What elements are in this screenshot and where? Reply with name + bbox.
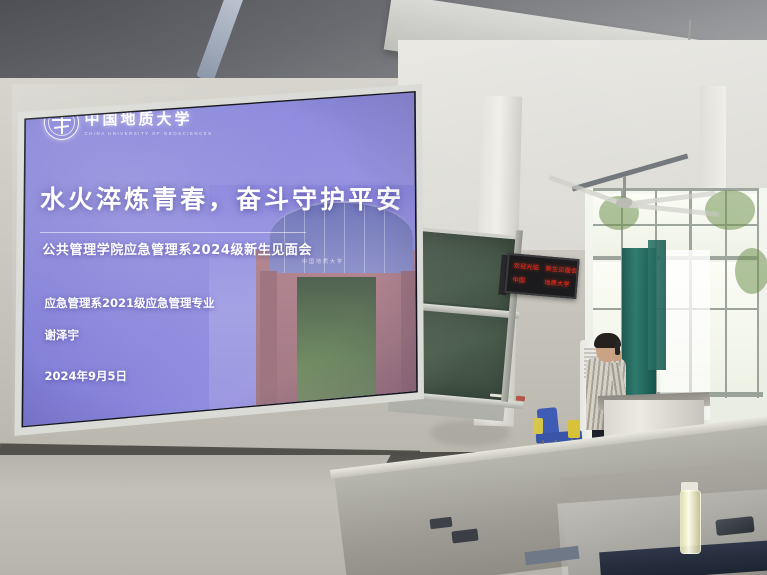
university-name-en: CHINA UNIVERSITY OF GEOSCIENCES [84, 131, 212, 136]
yellow-container [533, 418, 543, 434]
ceiling-fan-icon [616, 198, 632, 208]
projection-screen[interactable]: 中国地质大学 中国地质大学 [12, 84, 424, 436]
eraser [516, 396, 525, 402]
speaker-major: 应急管理系2021级应急管理专业 [44, 295, 214, 311]
slide-viewport: 中国地质大学 中国地质大学 [12, 84, 424, 436]
water-bottle [680, 490, 701, 554]
yellow-container [568, 420, 580, 438]
led-line-3: 中国 [512, 274, 526, 284]
photo-building-name: 中国地质大学 [302, 258, 344, 265]
led-display-sign: 欢迎光临 新生见面会 中国 地质大学 [504, 253, 579, 299]
window-curtain-fold [648, 240, 666, 370]
title-divider [40, 232, 306, 233]
classroom-photo: 欢迎光临 新生见面会 中国 地质大学 [0, 0, 767, 575]
microphone-icon [615, 341, 620, 355]
slide-subtitle: 公共管理学院应急管理系2024级新生见面会 [42, 239, 312, 258]
led-line-4: 地质大学 [544, 277, 570, 288]
speaker-name: 谢泽宇 [44, 327, 79, 343]
slide-title: 水火淬炼青春，奋斗守护平安 [40, 180, 404, 216]
slide-date: 2024年9月5日 [44, 368, 127, 384]
led-line-1: 欢迎光临 [513, 261, 539, 272]
led-line-2: 新生见面会 [545, 263, 578, 275]
wall-stain [430, 420, 510, 446]
presentation-slide: 中国地质大学 中国地质大学 [12, 84, 424, 436]
